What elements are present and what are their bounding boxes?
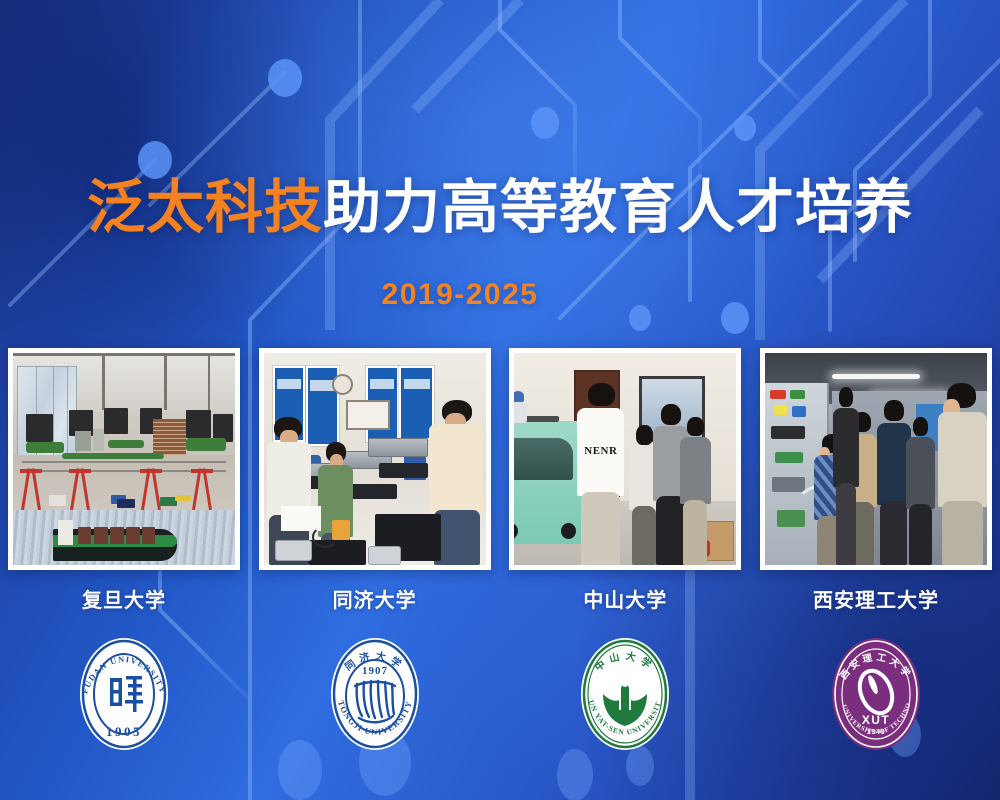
- photo-card-fudan[interactable]: [8, 348, 240, 570]
- logo-slot-tongji: 同济大学 TONGJI UNIVERSITY 1907: [259, 630, 491, 758]
- industrial-equipment-demo-photo: [765, 353, 987, 565]
- svg-text:1905: 1905: [106, 724, 142, 739]
- date-range-subtitle: 2019-2025: [0, 278, 1000, 312]
- page-title-rest: 助力高等教育人才培养: [323, 175, 913, 240]
- photo-card-xut[interactable]: [760, 348, 992, 570]
- logo-slot-fudan: FUDAN UNIVERSITY 1905: [8, 630, 240, 758]
- logo-slot-sysu: 中山大学 SUN YAT-SEN UNIVERSITY: [509, 630, 741, 758]
- xian-university-of-technology-logo: 西安理工大学 XI'AN UNIVERSITY OF TECHNOLOGY XU…: [824, 632, 928, 756]
- fudan-university-logo: FUDAN UNIVERSITY 1905: [72, 632, 176, 756]
- autonomous-vehicle-photo: NENR: [514, 353, 736, 565]
- caption-xut: 西安理工大学: [760, 584, 992, 613]
- sun-yat-sen-university-logo: 中山大学 SUN YAT-SEN UNIVERSITY: [573, 632, 677, 756]
- page-title-accent: 泛太科技: [87, 175, 323, 240]
- svg-text:XUT: XUT: [862, 713, 890, 727]
- logo-slot-xut: 西安理工大学 XI'AN UNIVERSITY OF TECHNOLOGY XU…: [760, 630, 992, 758]
- svg-text:1907: 1907: [362, 665, 388, 677]
- tongji-university-logo: 同济大学 TONGJI UNIVERSITY 1907: [323, 632, 427, 756]
- poster-root: 泛太科技助力高等教育人才培养 2019-2025: [0, 0, 1000, 800]
- caption-tongji: 同济大学: [259, 584, 491, 613]
- page-title: 泛太科技助力高等教育人才培养: [0, 178, 1000, 239]
- photo-card-tongji[interactable]: [259, 348, 491, 570]
- photo-card-sysu[interactable]: NENR: [509, 348, 741, 570]
- photo-gallery: NENR: [8, 348, 992, 570]
- university-logos: FUDAN UNIVERSITY 1905: [8, 630, 992, 758]
- university-captions: 复旦大学 同济大学 中山大学 西安理工大学: [8, 584, 992, 613]
- caption-sysu: 中山大学: [509, 584, 741, 613]
- lab-bench-students-photo: [264, 353, 486, 565]
- svg-text:1949: 1949: [867, 729, 886, 736]
- port-scale-model-photo: [13, 353, 235, 565]
- caption-fudan: 复旦大学: [8, 584, 240, 613]
